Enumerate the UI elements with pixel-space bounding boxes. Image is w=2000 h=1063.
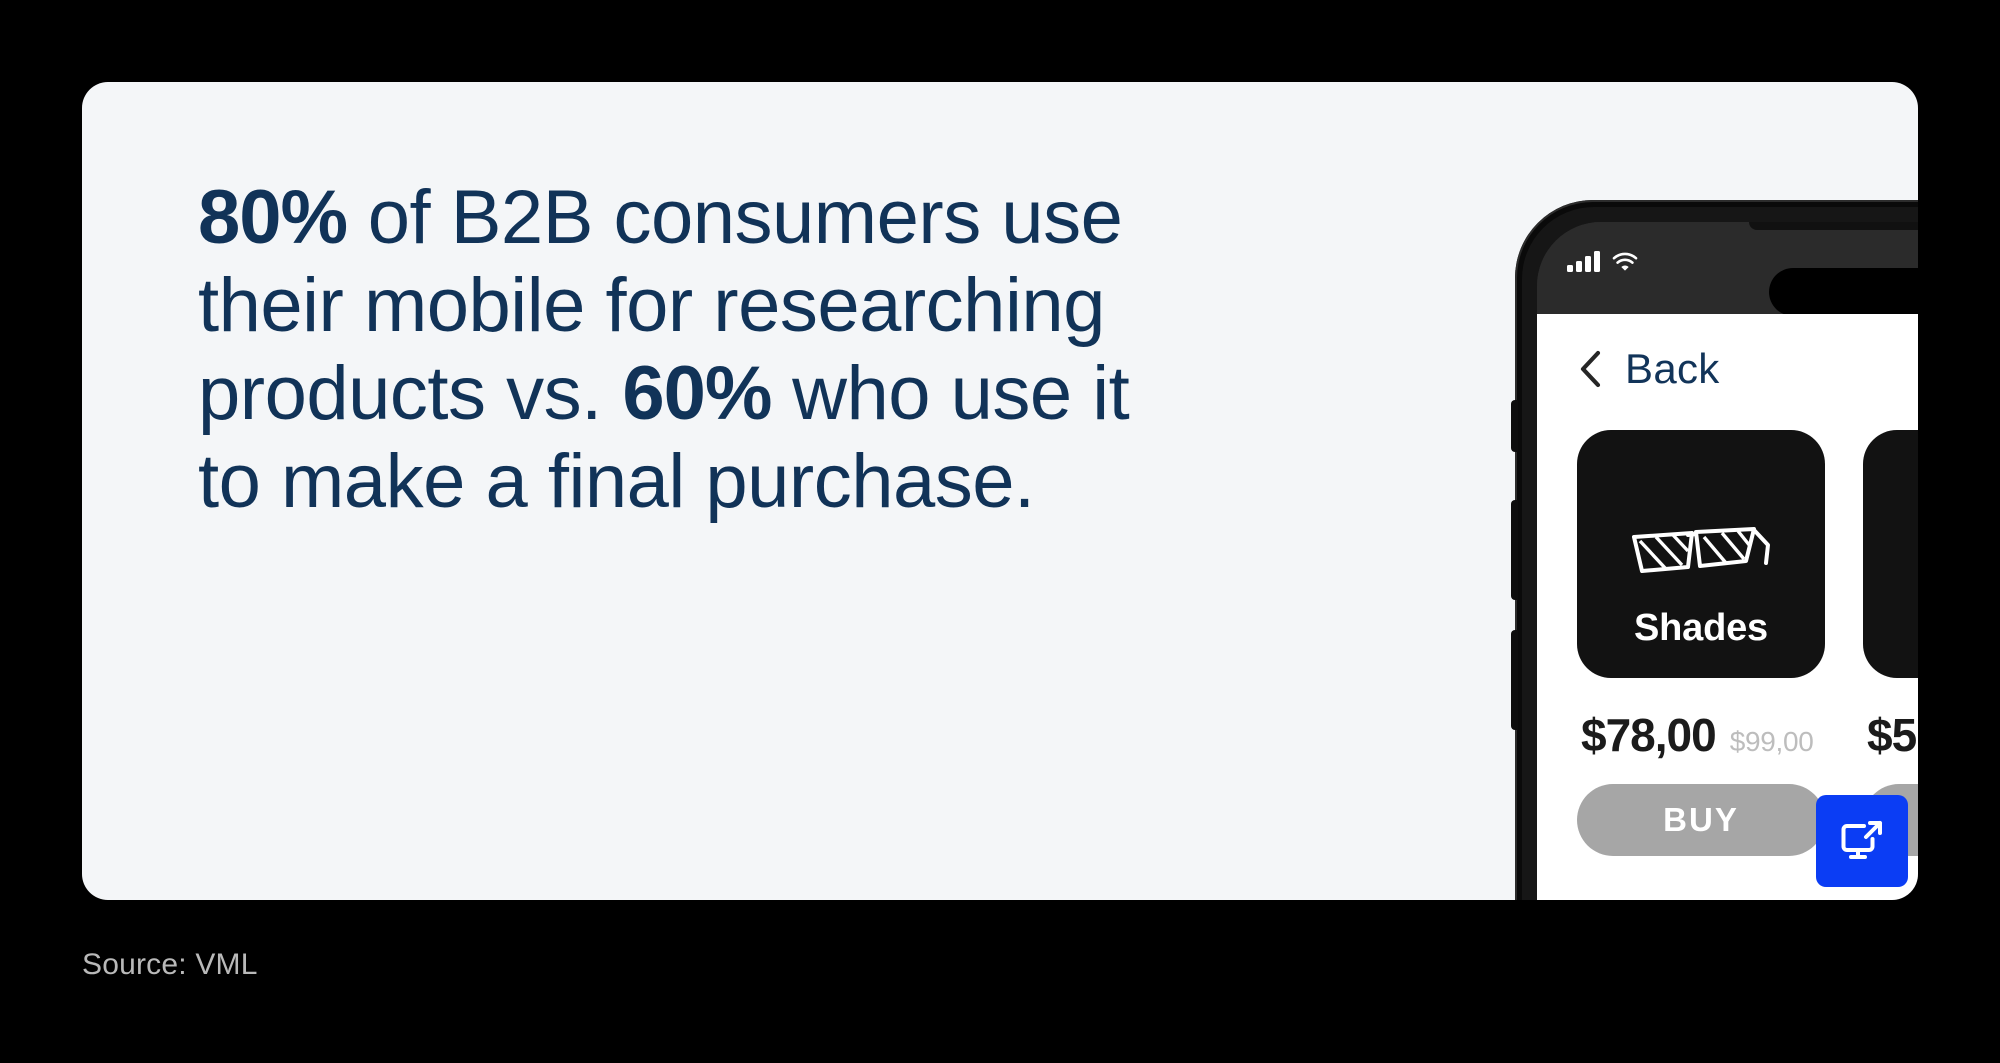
notch-shadow [1749, 222, 1918, 230]
product-tile[interactable]: Ipsum [1863, 430, 1918, 678]
cellular-signal-icon [1567, 252, 1600, 272]
stat-primary: 80% [198, 175, 347, 260]
sunglasses-icon [1626, 511, 1776, 603]
product-grid: Shades $78,00 $99,00 BUY [1577, 430, 1918, 856]
price-current: $78,00 [1581, 708, 1716, 762]
screen-share-badge[interactable] [1816, 795, 1908, 887]
product-card[interactable]: Ipsum $57,00 BUY [1863, 430, 1918, 856]
product-tile[interactable]: Shades [1577, 430, 1825, 678]
app-nav-bar: Back [1537, 314, 1918, 424]
dynamic-island [1769, 268, 1918, 316]
status-icons [1567, 252, 1638, 272]
product-card[interactable]: Shades $78,00 $99,00 BUY [1577, 430, 1825, 856]
product-name: Shades [1577, 607, 1825, 650]
source-caption: Source: VML [82, 948, 258, 982]
price-original: $99,00 [1730, 726, 1814, 758]
screenshot-canvas: 80% of B2B consumers use their mobile fo… [0, 0, 2000, 1063]
wifi-icon [1612, 252, 1638, 272]
screen-share-icon [1837, 816, 1887, 866]
volume-down-button[interactable] [1511, 630, 1518, 730]
price-row: $78,00 $99,00 [1577, 708, 1825, 762]
chevron-left-icon[interactable] [1577, 350, 1603, 388]
product-name: Ipsum [1863, 607, 1918, 650]
back-button-label[interactable]: Back [1625, 345, 1720, 393]
buy-button[interactable]: BUY [1577, 784, 1825, 856]
page-title: 80% of B2B consumers use their mobile fo… [198, 174, 1208, 527]
stat-secondary: 60% [622, 351, 771, 436]
stat-card-panel: 80% of B2B consumers use their mobile fo… [82, 82, 1918, 900]
volume-up-button[interactable] [1511, 500, 1518, 600]
status-bar [1537, 222, 1918, 314]
silent-switch-button[interactable] [1511, 400, 1518, 452]
price-current: $57,00 [1867, 708, 1918, 762]
price-row: $57,00 [1863, 708, 1918, 762]
